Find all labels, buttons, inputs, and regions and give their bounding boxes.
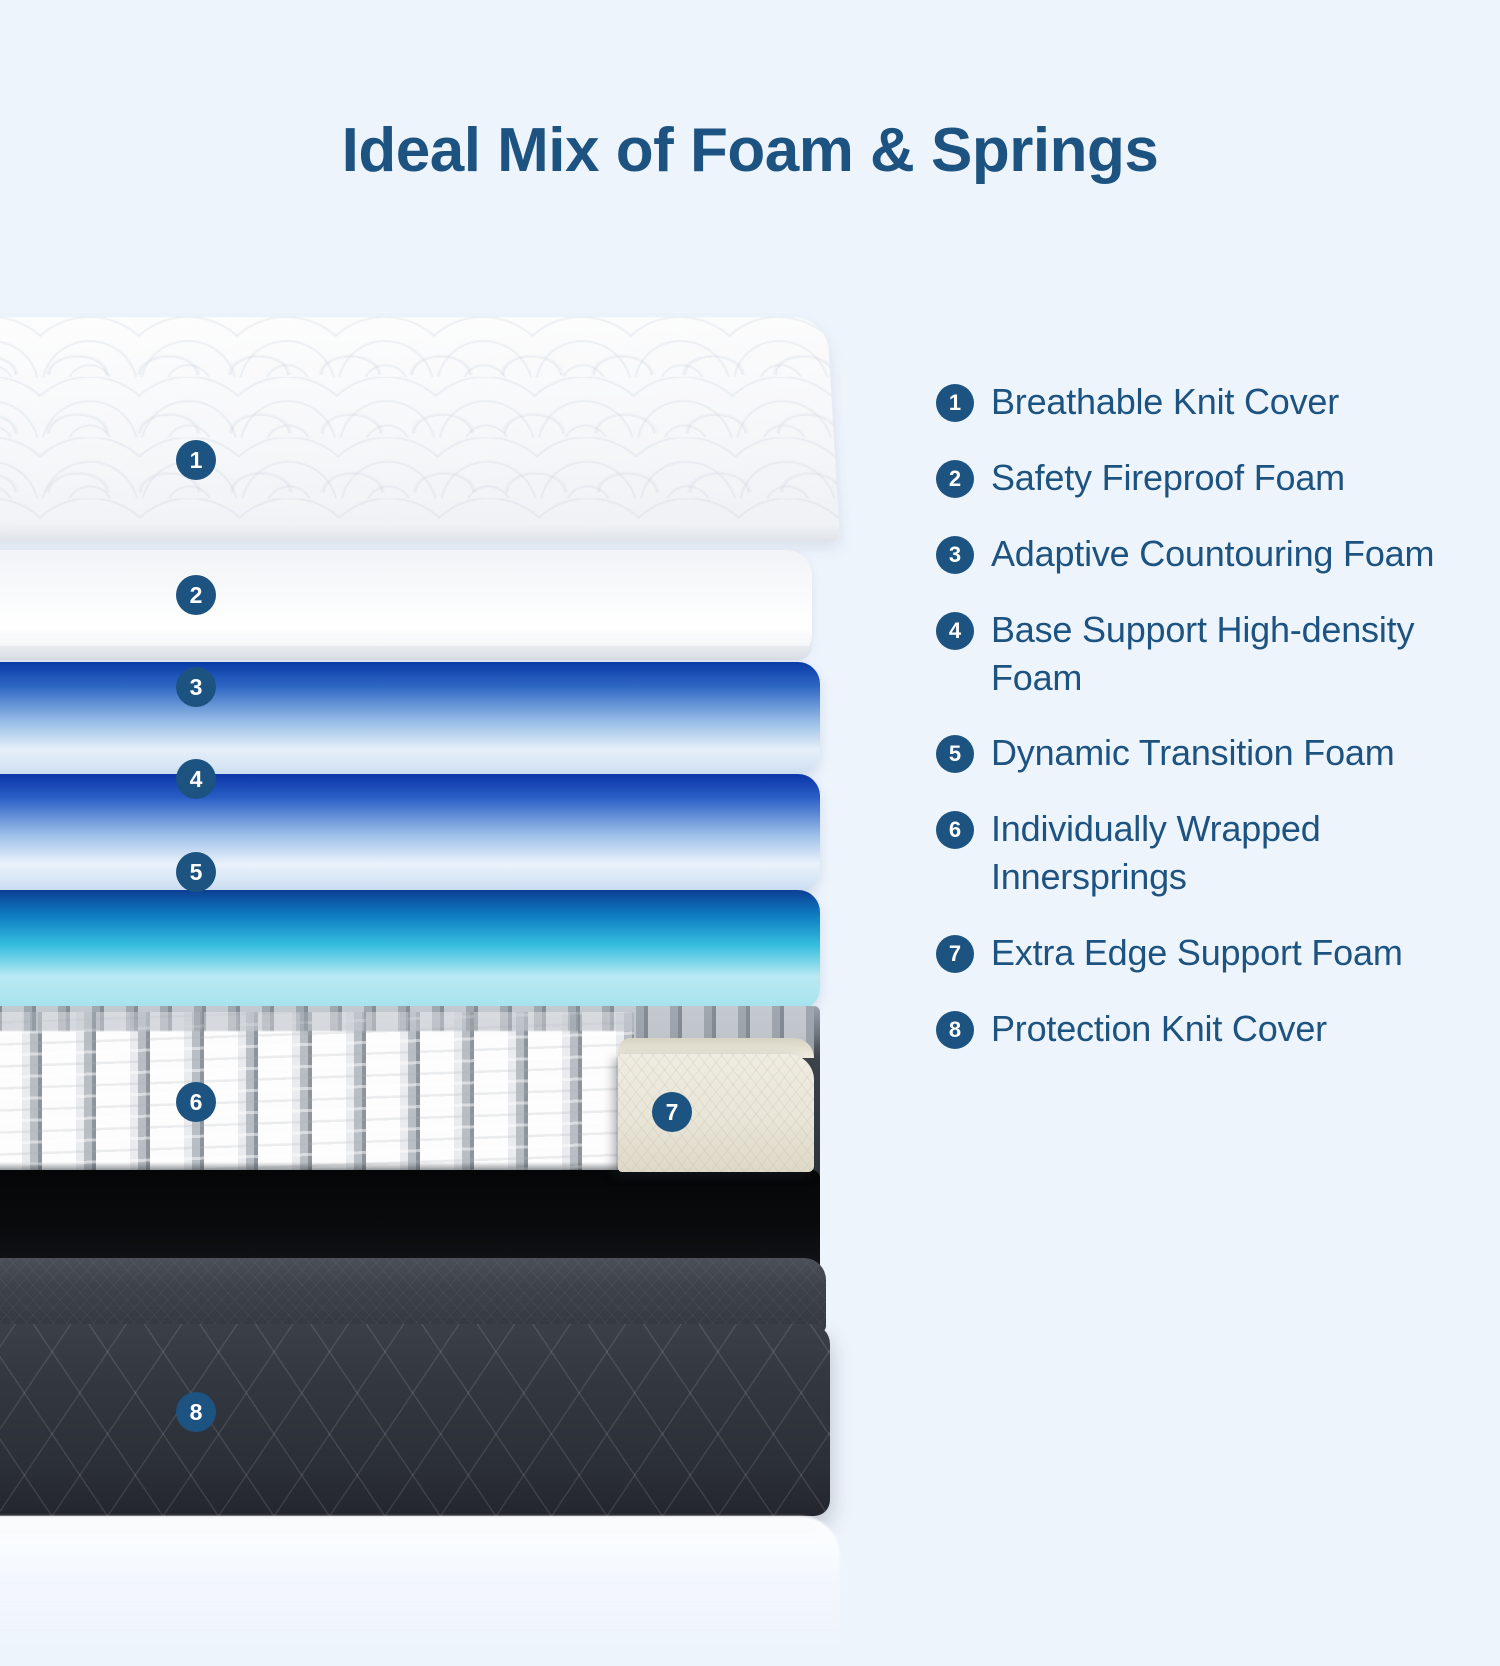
mattress-pin-7[interactable]: 7 bbox=[652, 1092, 692, 1132]
legend-item-dynamic-transition-foam[interactable]: 5 Dynamic Transition Foam bbox=[936, 729, 1456, 777]
mattress-layer-adaptive-countouring-foam bbox=[0, 662, 820, 774]
mattress-reflection bbox=[0, 1516, 840, 1666]
mattress-layer-protection-knit-cover bbox=[0, 1324, 830, 1516]
legend-badge-8: 8 bbox=[936, 1011, 974, 1049]
legend-label-5: Dynamic Transition Foam bbox=[991, 729, 1395, 777]
legend-label-6: Individually Wrapped Innersprings bbox=[991, 805, 1456, 901]
legend-badge-4: 4 bbox=[936, 612, 974, 650]
mattress-layer-extra-edge-support-foam bbox=[618, 1054, 814, 1172]
mattress-pin-8[interactable]: 8 bbox=[176, 1392, 216, 1432]
mattress-layer-dynamic-transition-foam bbox=[0, 890, 820, 1010]
mattress-pin-2[interactable]: 2 bbox=[176, 575, 216, 615]
legend-item-protection-knit-cover[interactable]: 8 Protection Knit Cover bbox=[936, 1005, 1456, 1053]
legend-item-extra-edge-support-foam[interactable]: 7 Extra Edge Support Foam bbox=[936, 929, 1456, 977]
legend-label-3: Adaptive Countouring Foam bbox=[991, 530, 1434, 578]
legend-item-safety-fireproof-foam[interactable]: 2 Safety Fireproof Foam bbox=[936, 454, 1456, 502]
legend-label-4: Base Support High-density Foam bbox=[991, 606, 1456, 702]
legend-label-1: Breathable Knit Cover bbox=[991, 378, 1339, 426]
legend-item-base-support-high-density-foam[interactable]: 4 Base Support High-density Foam bbox=[936, 606, 1456, 702]
mattress-layer-base-support-high-density-foam bbox=[0, 774, 820, 892]
legend-badge-5: 5 bbox=[936, 735, 974, 773]
legend-badge-7: 7 bbox=[936, 935, 974, 973]
legend-badge-6: 6 bbox=[936, 811, 974, 849]
legend-item-individually-wrapped-innersprings[interactable]: 6 Individually Wrapped Innersprings bbox=[936, 805, 1456, 901]
mattress-pin-3[interactable]: 3 bbox=[176, 667, 216, 707]
legend-label-2: Safety Fireproof Foam bbox=[991, 454, 1345, 502]
mattress-pin-1[interactable]: 1 bbox=[176, 440, 216, 480]
legend-badge-2: 2 bbox=[936, 460, 974, 498]
mattress-layer-breathable-knit-cover bbox=[0, 317, 840, 542]
page-title: Ideal Mix of Foam & Springs bbox=[0, 118, 1500, 183]
legend-label-8: Protection Knit Cover bbox=[991, 1005, 1327, 1053]
legend-item-adaptive-countouring-foam[interactable]: 3 Adaptive Countouring Foam bbox=[936, 530, 1456, 578]
layer-legend: 1 Breathable Knit Cover 2 Safety Firepro… bbox=[936, 378, 1456, 1081]
mattress-diagram: 1 2 3 4 5 6 7 8 bbox=[0, 312, 870, 1412]
mattress-base-rail bbox=[0, 1258, 826, 1332]
legend-item-breathable-knit-cover[interactable]: 1 Breathable Knit Cover bbox=[936, 378, 1456, 426]
mattress-pin-6[interactable]: 6 bbox=[176, 1082, 216, 1122]
legend-badge-3: 3 bbox=[936, 536, 974, 574]
mattress-pin-5[interactable]: 5 bbox=[176, 852, 216, 892]
mattress-pin-4[interactable]: 4 bbox=[176, 759, 216, 799]
legend-badge-1: 1 bbox=[936, 384, 974, 422]
legend-label-7: Extra Edge Support Foam bbox=[991, 929, 1403, 977]
mattress-layer-safety-fireproof-foam bbox=[0, 550, 812, 660]
innerspring-coils bbox=[0, 1012, 634, 1176]
